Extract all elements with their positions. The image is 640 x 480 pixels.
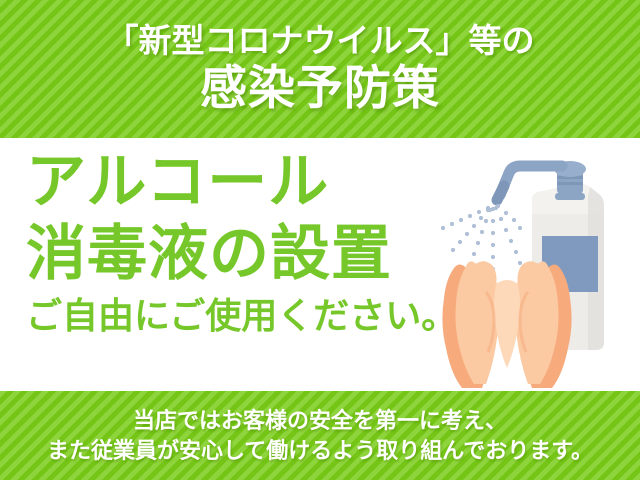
main-text-block: アルコール 消毒液の設置 ご自由にご使用ください。 bbox=[26, 152, 426, 334]
footer-text-block: 当店ではお客様の安全を第一に考え、 また従業員が安心して働けるよう取り組んでおり… bbox=[0, 391, 640, 480]
header-subtitle: 「新型コロナウイルス」等の bbox=[106, 24, 535, 59]
header-title: 感染予防策 bbox=[200, 62, 440, 114]
cupped-hands-group bbox=[442, 261, 571, 388]
covid-prevention-poster: 「新型コロナウイルス」等の 感染予防策 アルコール 消毒液の設置 ご自由にご使用… bbox=[0, 0, 640, 480]
spray-droplets bbox=[441, 204, 522, 271]
hands-center-highlight bbox=[494, 280, 520, 368]
sanitizer-illustration bbox=[424, 152, 636, 392]
footer-line-1: 当店ではお客様の安全を第一に考え、 bbox=[133, 406, 507, 436]
main-heading-line-1: アルコール bbox=[26, 152, 426, 212]
pump-base bbox=[555, 193, 585, 200]
header-text-block: 「新型コロナウイルス」等の 感染予防策 bbox=[0, 0, 640, 138]
main-subheading: ご自由にご使用ください。 bbox=[26, 298, 426, 334]
left-fingertips bbox=[462, 261, 497, 286]
pump-ridge-2 bbox=[557, 182, 583, 185]
right-fingertips bbox=[518, 261, 553, 286]
footer-line-2: また従業員が安心して働けるよう取り組んでおります。 bbox=[47, 436, 593, 466]
nozzle-tip bbox=[497, 186, 504, 200]
main-heading-line-2: 消毒液の設置 bbox=[26, 224, 426, 284]
